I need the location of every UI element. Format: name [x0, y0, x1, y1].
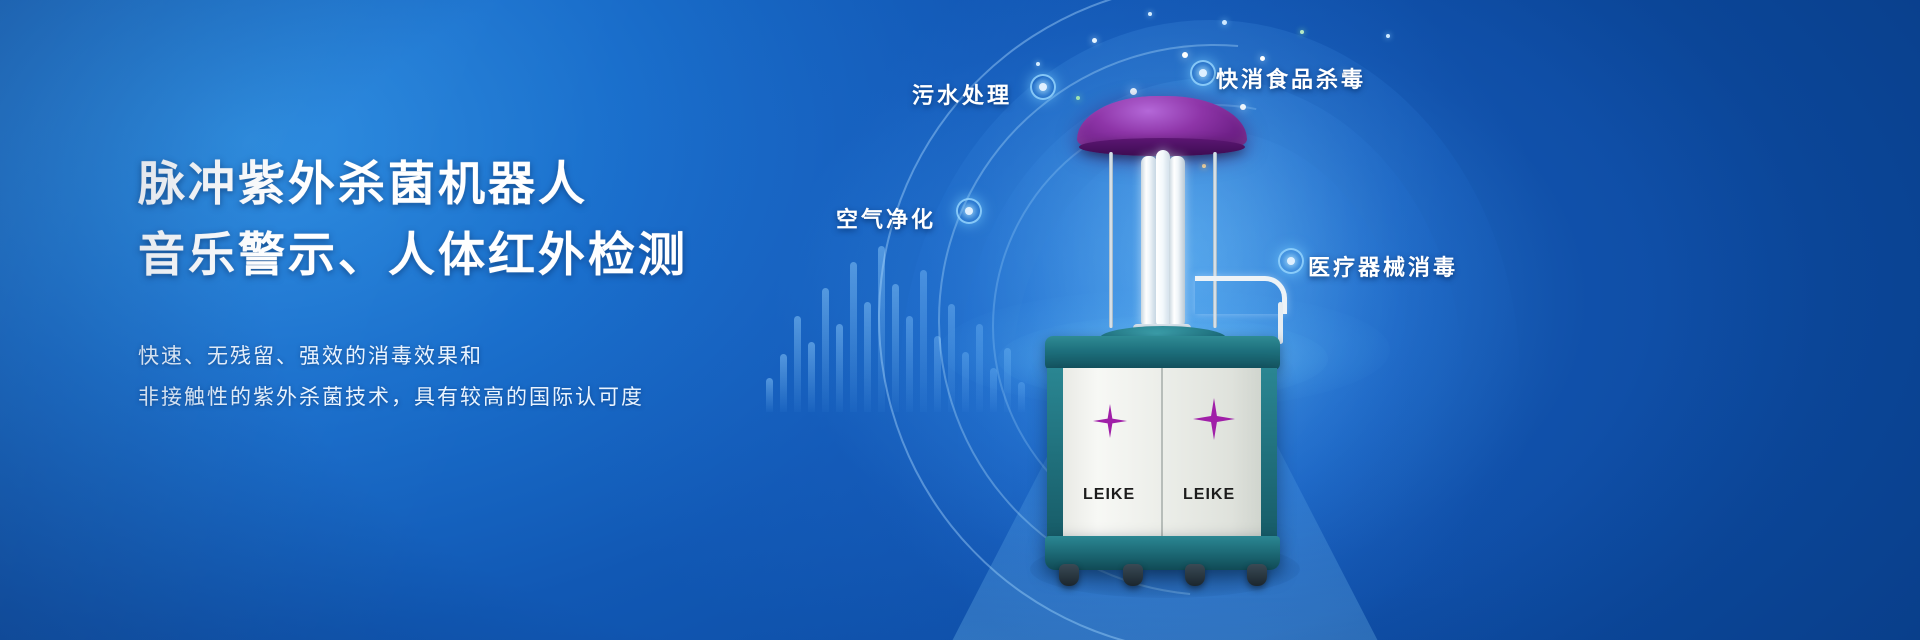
uv-lamp-tube-center — [1156, 150, 1170, 328]
push-handle — [1195, 276, 1287, 314]
push-handle-stem — [1278, 302, 1283, 344]
tag-medical-device-disinfection: 医疗器械消毒 — [1308, 250, 1458, 282]
base-housing — [1045, 536, 1280, 570]
product-scene: LEIKE LEIKE 污水处理 快消食品杀毒 空气净化 医疗器械消毒 — [830, 0, 1920, 640]
node-marker-air — [956, 198, 982, 224]
lamp-strut-left — [1109, 152, 1113, 328]
uv-lamp-tube-right — [1169, 156, 1185, 328]
caster-wheel — [1247, 564, 1267, 586]
sparkle-particle — [1036, 62, 1040, 66]
sparkle-particle — [1260, 56, 1265, 61]
body-side-left — [1047, 368, 1063, 538]
tag-wastewater-treatment: 污水处理 — [912, 78, 1012, 110]
sparkle-particle — [1092, 38, 1097, 43]
caster-wheel — [1123, 564, 1143, 586]
caster-wheel — [1059, 564, 1079, 586]
body-side-right — [1261, 368, 1277, 538]
node-marker-medical — [1278, 248, 1304, 274]
node-marker-wastewater — [1030, 74, 1056, 100]
brand-label-right: LEIKE — [1183, 486, 1235, 504]
tag-air-purification: 空气净化 — [836, 202, 936, 234]
node-marker-food — [1190, 60, 1216, 86]
uv-lamp-tube-left — [1141, 156, 1157, 328]
headline-line-1: 脉冲紫外杀菌机器人 — [138, 150, 898, 221]
tag-fmcg-food-sterilization: 快消食品杀毒 — [1216, 62, 1366, 94]
top-housing — [1045, 336, 1280, 370]
sparkle-particle — [1300, 30, 1304, 34]
body-panel-divider — [1161, 368, 1163, 538]
uv-disinfection-robot: LEIKE LEIKE — [1025, 88, 1300, 508]
brand-label-left: LEIKE — [1083, 486, 1135, 504]
sparkle-particle — [1182, 52, 1188, 58]
caster-wheel — [1185, 564, 1205, 586]
promo-banner: 脉冲紫外杀菌机器人 音乐警示、人体红外检测 快速、无残留、强效的消毒效果和 非接… — [0, 0, 1920, 640]
sparkle-particle — [1148, 12, 1152, 16]
sparkle-particle — [1222, 20, 1227, 25]
sparkle-particle — [1386, 34, 1390, 38]
